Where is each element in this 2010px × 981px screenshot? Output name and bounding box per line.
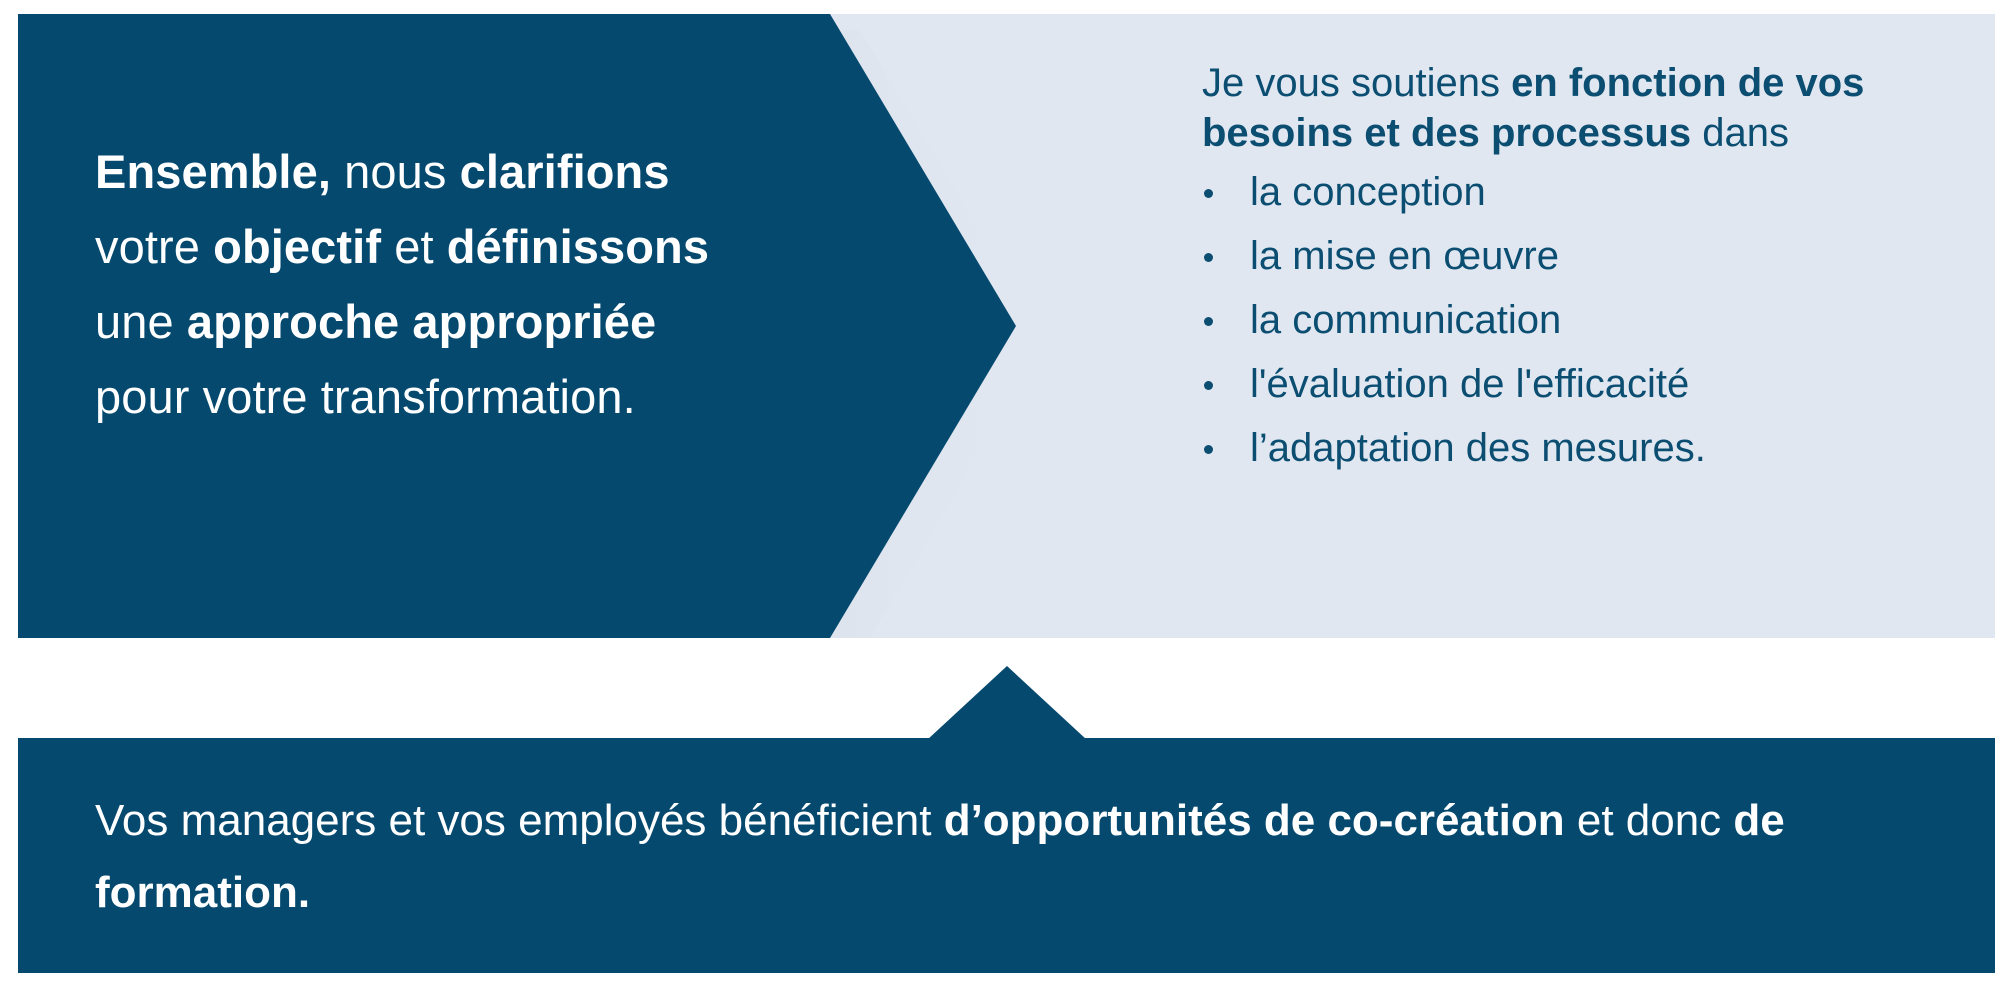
bottom-run-0: Vos managers et vos employés bénéficient bbox=[95, 796, 944, 845]
bottom-run-1: d’opportunités de co-création bbox=[944, 796, 1565, 845]
top-section: Ensemble, nous clarifions votre objectif… bbox=[18, 14, 1995, 638]
arrow-run-0: Ensemble, bbox=[95, 145, 331, 198]
bullet-label: la mise en œuvre bbox=[1250, 234, 1559, 278]
arrow-chevron-block: Ensemble, nous clarifions votre objectif… bbox=[18, 14, 1018, 638]
arrow-run-8: approche appropriée bbox=[187, 295, 656, 348]
bullet-label: l’adaptation des mesures. bbox=[1250, 426, 1706, 470]
list-item: l’adaptation des mesures. bbox=[1202, 423, 1962, 473]
bullet-dot-icon bbox=[1204, 317, 1213, 326]
list-item: la communication bbox=[1202, 295, 1962, 345]
arrow-run-5: et bbox=[381, 220, 447, 273]
arrow-run-2: clarifions bbox=[460, 145, 670, 198]
arrow-run-9: pour votre transformation. bbox=[95, 370, 636, 423]
right-lead-text: Je vous soutiens en fonction de vos beso… bbox=[1202, 58, 1962, 158]
right-column: Je vous soutiens en fonction de vos beso… bbox=[1202, 58, 1962, 487]
list-item: la mise en œuvre bbox=[1202, 231, 1962, 281]
list-item: la conception bbox=[1202, 167, 1962, 217]
bullet-dot-icon bbox=[1204, 189, 1213, 198]
peak-triangle-connector bbox=[927, 666, 1087, 740]
arrow-run-4: objectif bbox=[213, 220, 381, 273]
bullet-dot-icon bbox=[1204, 381, 1213, 390]
bullet-dot-icon bbox=[1204, 253, 1213, 262]
list-item: l'évaluation de l'efficacité bbox=[1202, 359, 1962, 409]
arrow-run-1: nous bbox=[331, 145, 460, 198]
arrow-panel-text: Ensemble, nous clarifions votre objectif… bbox=[95, 134, 735, 434]
bullet-dot-icon bbox=[1204, 445, 1213, 454]
bullet-label: l'évaluation de l'efficacité bbox=[1250, 362, 1689, 406]
bullet-label: la communication bbox=[1250, 298, 1561, 342]
lead-run-2: dans bbox=[1691, 111, 1789, 155]
lead-run-0: Je vous soutiens bbox=[1202, 61, 1511, 105]
support-bullet-list: la conception la mise en œuvre la commun… bbox=[1202, 167, 1962, 473]
bottom-run-2: et donc bbox=[1565, 796, 1734, 845]
infographic-root: Ensemble, nous clarifions votre objectif… bbox=[0, 0, 2010, 981]
arrow-run-6: définissons bbox=[447, 220, 709, 273]
bottom-banner-text: Vos managers et vos employés bénéficient… bbox=[95, 785, 1955, 929]
bullet-label: la conception bbox=[1250, 170, 1486, 214]
arrow-run-3: votre bbox=[95, 220, 213, 273]
arrow-run-7: une bbox=[95, 295, 187, 348]
bottom-banner: Vos managers et vos employés bénéficient… bbox=[18, 738, 1995, 973]
